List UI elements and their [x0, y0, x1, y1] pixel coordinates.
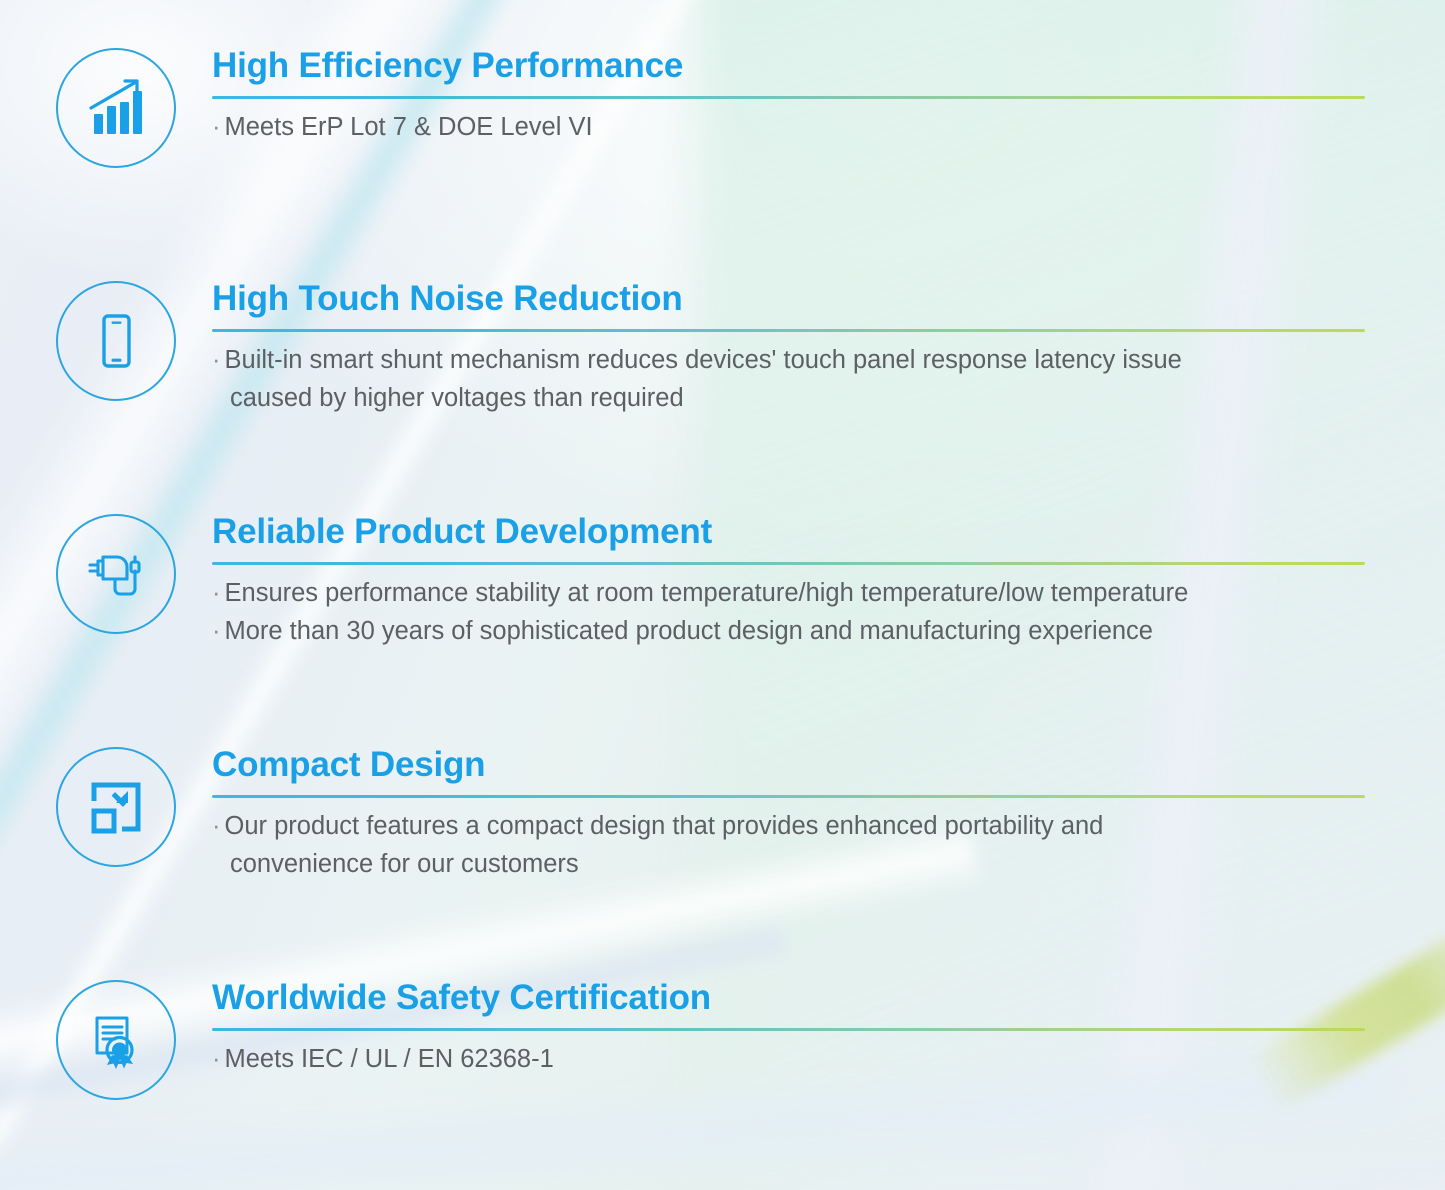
feature-title: High Efficiency Performance: [212, 48, 1365, 85]
bullet-mark: ·: [212, 346, 221, 374]
feature-item-high-efficiency-performance: High Efficiency Performance ·Meets ErP L…: [0, 48, 1445, 168]
feature-highlights-page: High Efficiency Performance ·Meets ErP L…: [0, 0, 1445, 1190]
feature-body: Compact Design ·Our product features a c…: [212, 747, 1445, 884]
bullet-mark: ·: [212, 579, 221, 607]
smartphone-icon: [56, 281, 176, 401]
feature-divider: [212, 795, 1365, 798]
feature-description: ·Our product features a compact design t…: [212, 808, 1365, 884]
feature-description: ·Meets IEC / UL / EN 62368-1: [212, 1041, 1365, 1079]
feature-title: Reliable Product Development: [212, 514, 1365, 551]
bullet-mark: ·: [212, 1045, 221, 1073]
feature-icon-wrap: [54, 48, 178, 168]
feature-bullet-line: ·Meets ErP Lot 7 & DOE Level VI: [212, 109, 1365, 147]
feature-description: ·Built-in smart shunt mechanism reduces …: [212, 342, 1365, 418]
feature-description: ·Meets ErP Lot 7 & DOE Level VI: [212, 109, 1365, 147]
feature-bullet-line: ·Built-in smart shunt mechanism reduces …: [212, 342, 1365, 380]
feature-bullet-line: ·More than 30 years of sophisticated pro…: [212, 613, 1365, 651]
feature-divider: [212, 96, 1365, 99]
feature-bullet-line: ·Ensures performance stability at room t…: [212, 575, 1365, 613]
bullet-text: Meets ErP Lot 7 & DOE Level VI: [225, 113, 593, 141]
feature-bullet-line-continuation: convenience for our customers: [212, 846, 1365, 884]
bullet-mark: ·: [212, 617, 221, 645]
feature-title: Compact Design: [212, 747, 1365, 784]
feature-item-reliable-product-development: Reliable Product Development ·Ensures pe…: [0, 514, 1445, 651]
feature-description: ·Ensures performance stability at room t…: [212, 575, 1365, 651]
feature-item-high-touch-noise-reduction: High Touch Noise Reduction ·Built-in sma…: [0, 281, 1445, 418]
bar-chart-growth-icon: [56, 48, 176, 168]
feature-icon-wrap: [54, 514, 178, 634]
feature-icon-wrap: [54, 747, 178, 867]
compact-resize-icon: [56, 747, 176, 867]
certificate-award-icon: [56, 980, 176, 1100]
bullet-text: Meets IEC / UL / EN 62368-1: [225, 1045, 554, 1073]
power-adapter-icon: [56, 514, 176, 634]
bullet-text: Our product features a compact design th…: [225, 812, 1104, 840]
bullet-text: Built-in smart shunt mechanism reduces d…: [225, 346, 1182, 374]
feature-bullet-line: ·Meets IEC / UL / EN 62368-1: [212, 1041, 1365, 1079]
feature-body: Reliable Product Development ·Ensures pe…: [212, 514, 1445, 651]
bullet-text: caused by higher voltages than required: [230, 384, 684, 412]
feature-title: Worldwide Safety Certification: [212, 980, 1365, 1017]
feature-icon-wrap: [54, 281, 178, 401]
bullet-mark: ·: [212, 812, 221, 840]
features-list: High Efficiency Performance ·Meets ErP L…: [0, 0, 1445, 1190]
feature-icon-wrap: [54, 980, 178, 1100]
feature-body: High Efficiency Performance ·Meets ErP L…: [212, 48, 1445, 147]
feature-item-compact-design: Compact Design ·Our product features a c…: [0, 747, 1445, 884]
bullet-text: Ensures performance stability at room te…: [225, 579, 1189, 607]
feature-body: High Touch Noise Reduction ·Built-in sma…: [212, 281, 1445, 418]
bullet-mark: ·: [212, 113, 221, 141]
feature-body: Worldwide Safety Certification ·Meets IE…: [212, 980, 1445, 1079]
bullet-text: More than 30 years of sophisticated prod…: [225, 617, 1153, 645]
feature-bullet-line-continuation: caused by higher voltages than required: [212, 380, 1365, 418]
feature-divider: [212, 329, 1365, 332]
feature-bullet-line: ·Our product features a compact design t…: [212, 808, 1365, 846]
feature-item-worldwide-safety-certification: Worldwide Safety Certification ·Meets IE…: [0, 980, 1445, 1100]
feature-title: High Touch Noise Reduction: [212, 281, 1365, 318]
feature-divider: [212, 1028, 1365, 1031]
feature-divider: [212, 562, 1365, 565]
bullet-text: convenience for our customers: [230, 850, 579, 878]
